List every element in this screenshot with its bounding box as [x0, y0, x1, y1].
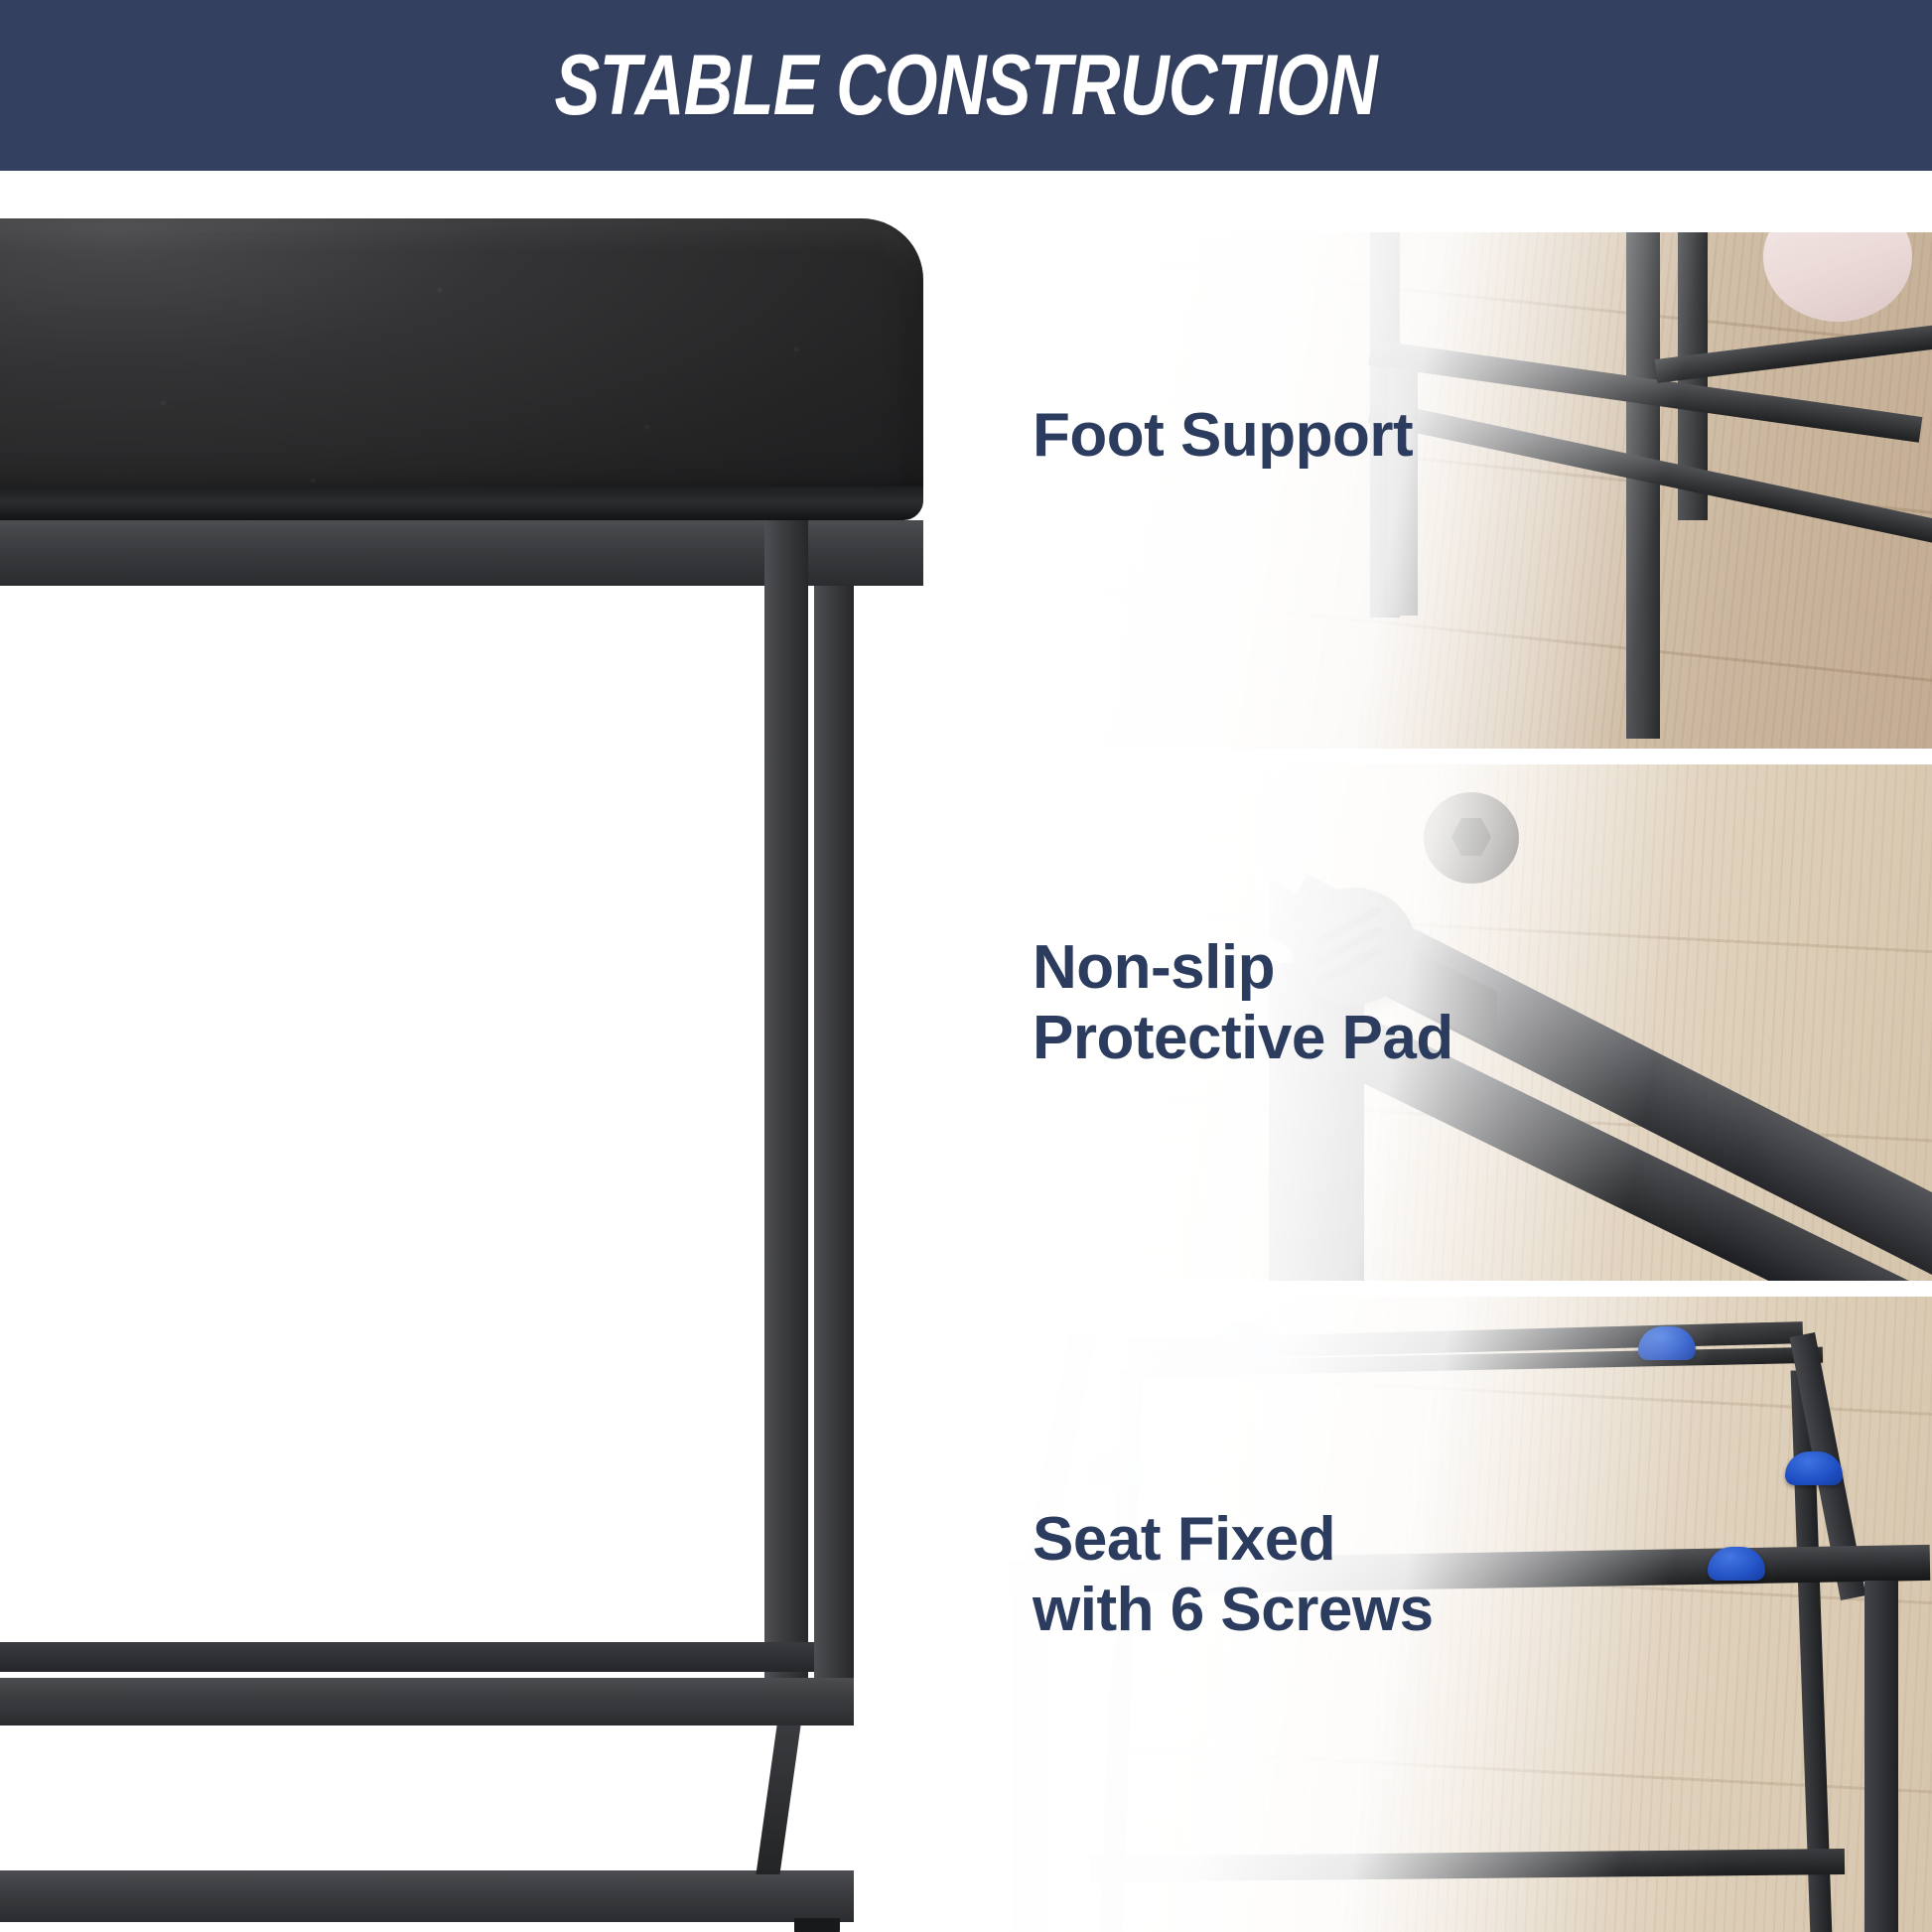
frame-leg-outer [764, 520, 808, 1722]
hex-socket-screw [1424, 792, 1519, 884]
feature-panel-foot-support: Foot Support [971, 232, 1932, 749]
foot-support-photo [971, 232, 1932, 749]
footrest-rail-middle [0, 1678, 854, 1725]
feature-panel-non-slip-pad: Non-slip Protective Pad [971, 764, 1932, 1281]
feature-panel-seat-screws: Seat Fixed with 6 Screws [971, 1297, 1932, 1932]
frame-diagonal-brace [756, 1725, 800, 1874]
feature-panel-column: Foot Support Non-slip Protective Pad [971, 171, 1932, 1932]
screw-marker-6 [1708, 1547, 1765, 1581]
seat-cushion [0, 218, 923, 516]
screw-marker-4 [1785, 1451, 1843, 1485]
screw-marker-2 [1638, 1326, 1696, 1360]
frame-leg-front-right [1864, 1581, 1898, 1932]
panel-caption-non-slip-pad: Non-slip Protective Pad [1033, 933, 1453, 1073]
panel-caption-seat-screws: Seat Fixed with 6 Screws [1033, 1505, 1434, 1645]
screw-marker-1 [1215, 1324, 1273, 1358]
base-rail-lower [0, 1870, 854, 1922]
footrest-rail-upper [0, 1642, 814, 1672]
footrest-rail [1090, 1849, 1845, 1882]
header-banner: STABLE CONSTRUCTION [0, 0, 1932, 171]
frame-leg-lower [1269, 1231, 1364, 1281]
frame-post-center [1626, 232, 1660, 739]
content-stage: Foot Support Non-slip Protective Pad [0, 171, 1932, 1932]
page-title: STABLE CONSTRUCTION [555, 37, 1377, 135]
screw-marker-3 [1088, 1451, 1146, 1485]
seat-welt-trim [0, 486, 923, 520]
hero-product-image [0, 171, 955, 1932]
panel-caption-foot-support: Foot Support [1033, 401, 1413, 472]
frame-leg-inner [814, 586, 854, 1696]
non-slip-foot-cap [794, 1918, 840, 1932]
